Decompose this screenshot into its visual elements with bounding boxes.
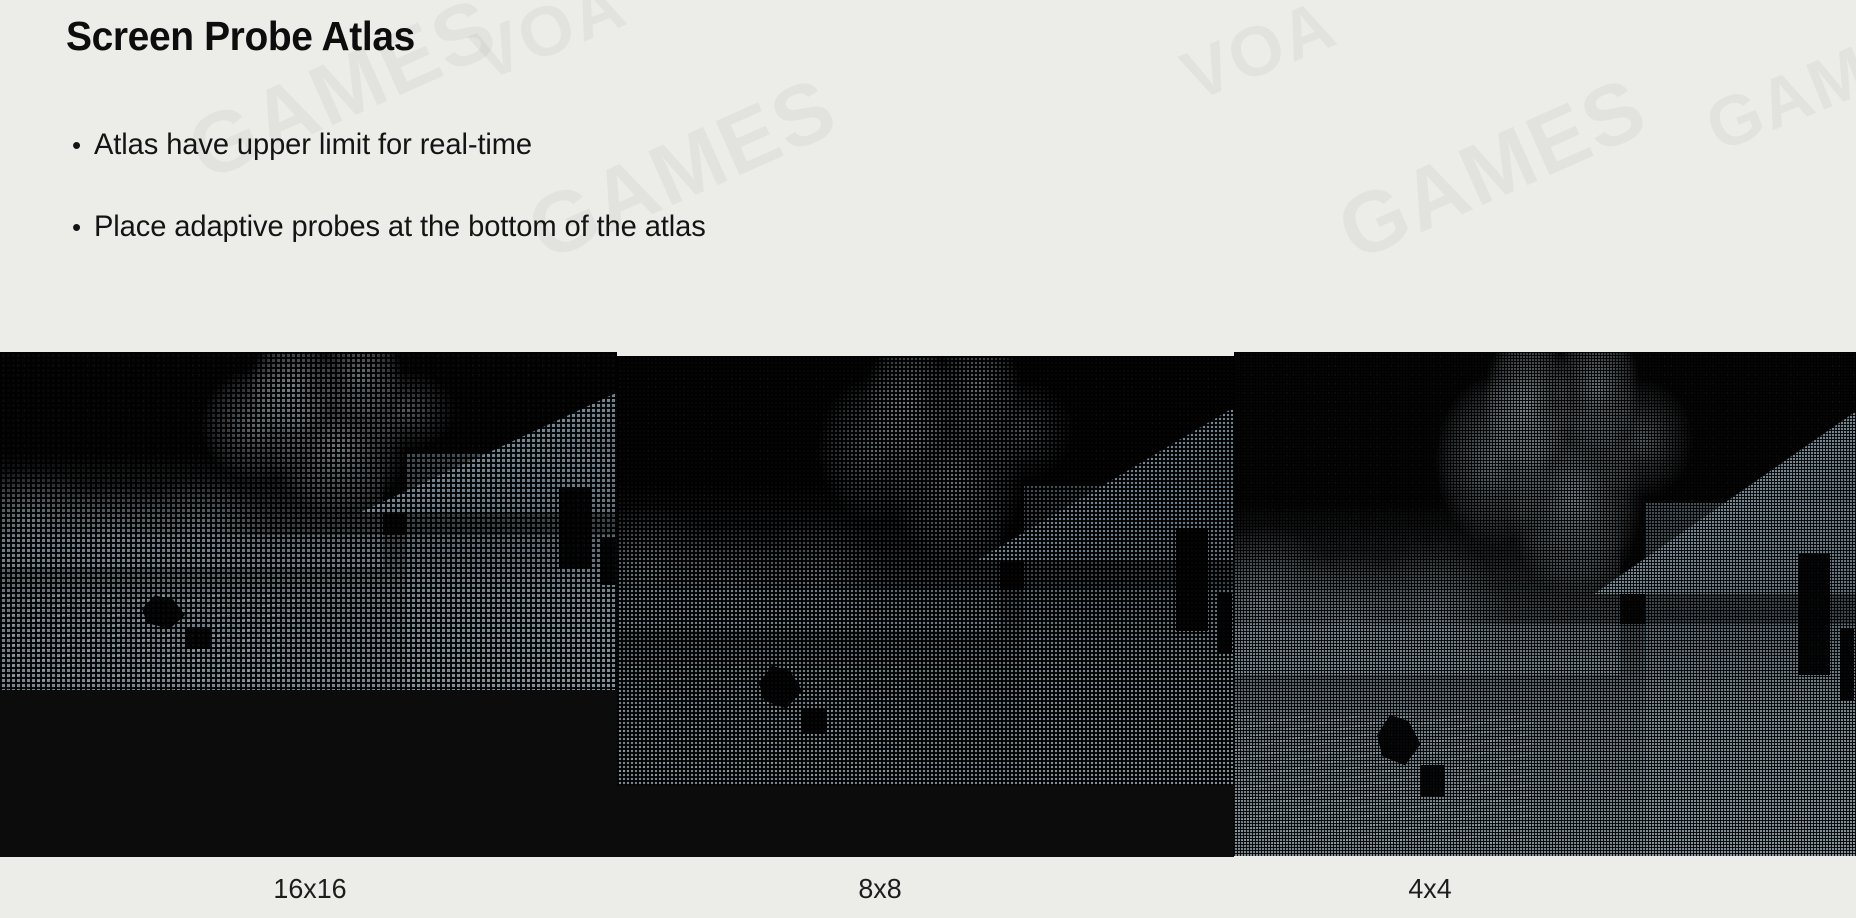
probe-grid-overlay — [617, 356, 1234, 786]
atlas-panel-16x16 — [0, 352, 617, 856]
bullet-marker-icon: • — [72, 132, 94, 158]
probe-scene — [1234, 352, 1856, 856]
probe-scene — [0, 352, 617, 690]
atlas-caption-16x16: 16x16 — [137, 873, 483, 905]
atlas-caption-row: 16x16 8x8 4x4 — [0, 856, 1856, 918]
atlas-content-8x8 — [617, 356, 1234, 786]
atlas-caption-4x4: 4x4 — [1257, 873, 1603, 905]
probe-grid-overlay — [0, 352, 617, 690]
atlas-caption-8x8: 8x8 — [707, 873, 1053, 905]
atlas-panel-4x4 — [1234, 352, 1856, 856]
bullet-text: Place adaptive probes at the bottom of t… — [94, 210, 706, 244]
atlas-content-4x4 — [1234, 352, 1856, 856]
figure-baseline — [0, 852, 1234, 857]
slide-text-block: Screen Probe Atlas • Atlas have upper li… — [0, 0, 1856, 296]
atlas-comparison-figure — [0, 296, 1856, 856]
page-title: Screen Probe Atlas — [66, 13, 415, 60]
probe-scene — [617, 356, 1234, 786]
bullet-text: Atlas have upper limit for real-time — [94, 128, 532, 162]
atlas-unused-region-16x16 — [0, 690, 617, 856]
atlas-unused-region-8x8 — [617, 786, 1234, 856]
probe-grid-overlay — [1234, 352, 1856, 856]
bullet-item: • Place adaptive probes at the bottom of… — [72, 210, 725, 244]
atlas-content-16x16 — [0, 352, 617, 690]
bullet-item: • Atlas have upper limit for real-time — [72, 128, 546, 162]
bullet-marker-icon: • — [72, 214, 94, 240]
atlas-panel-8x8 — [617, 356, 1234, 856]
